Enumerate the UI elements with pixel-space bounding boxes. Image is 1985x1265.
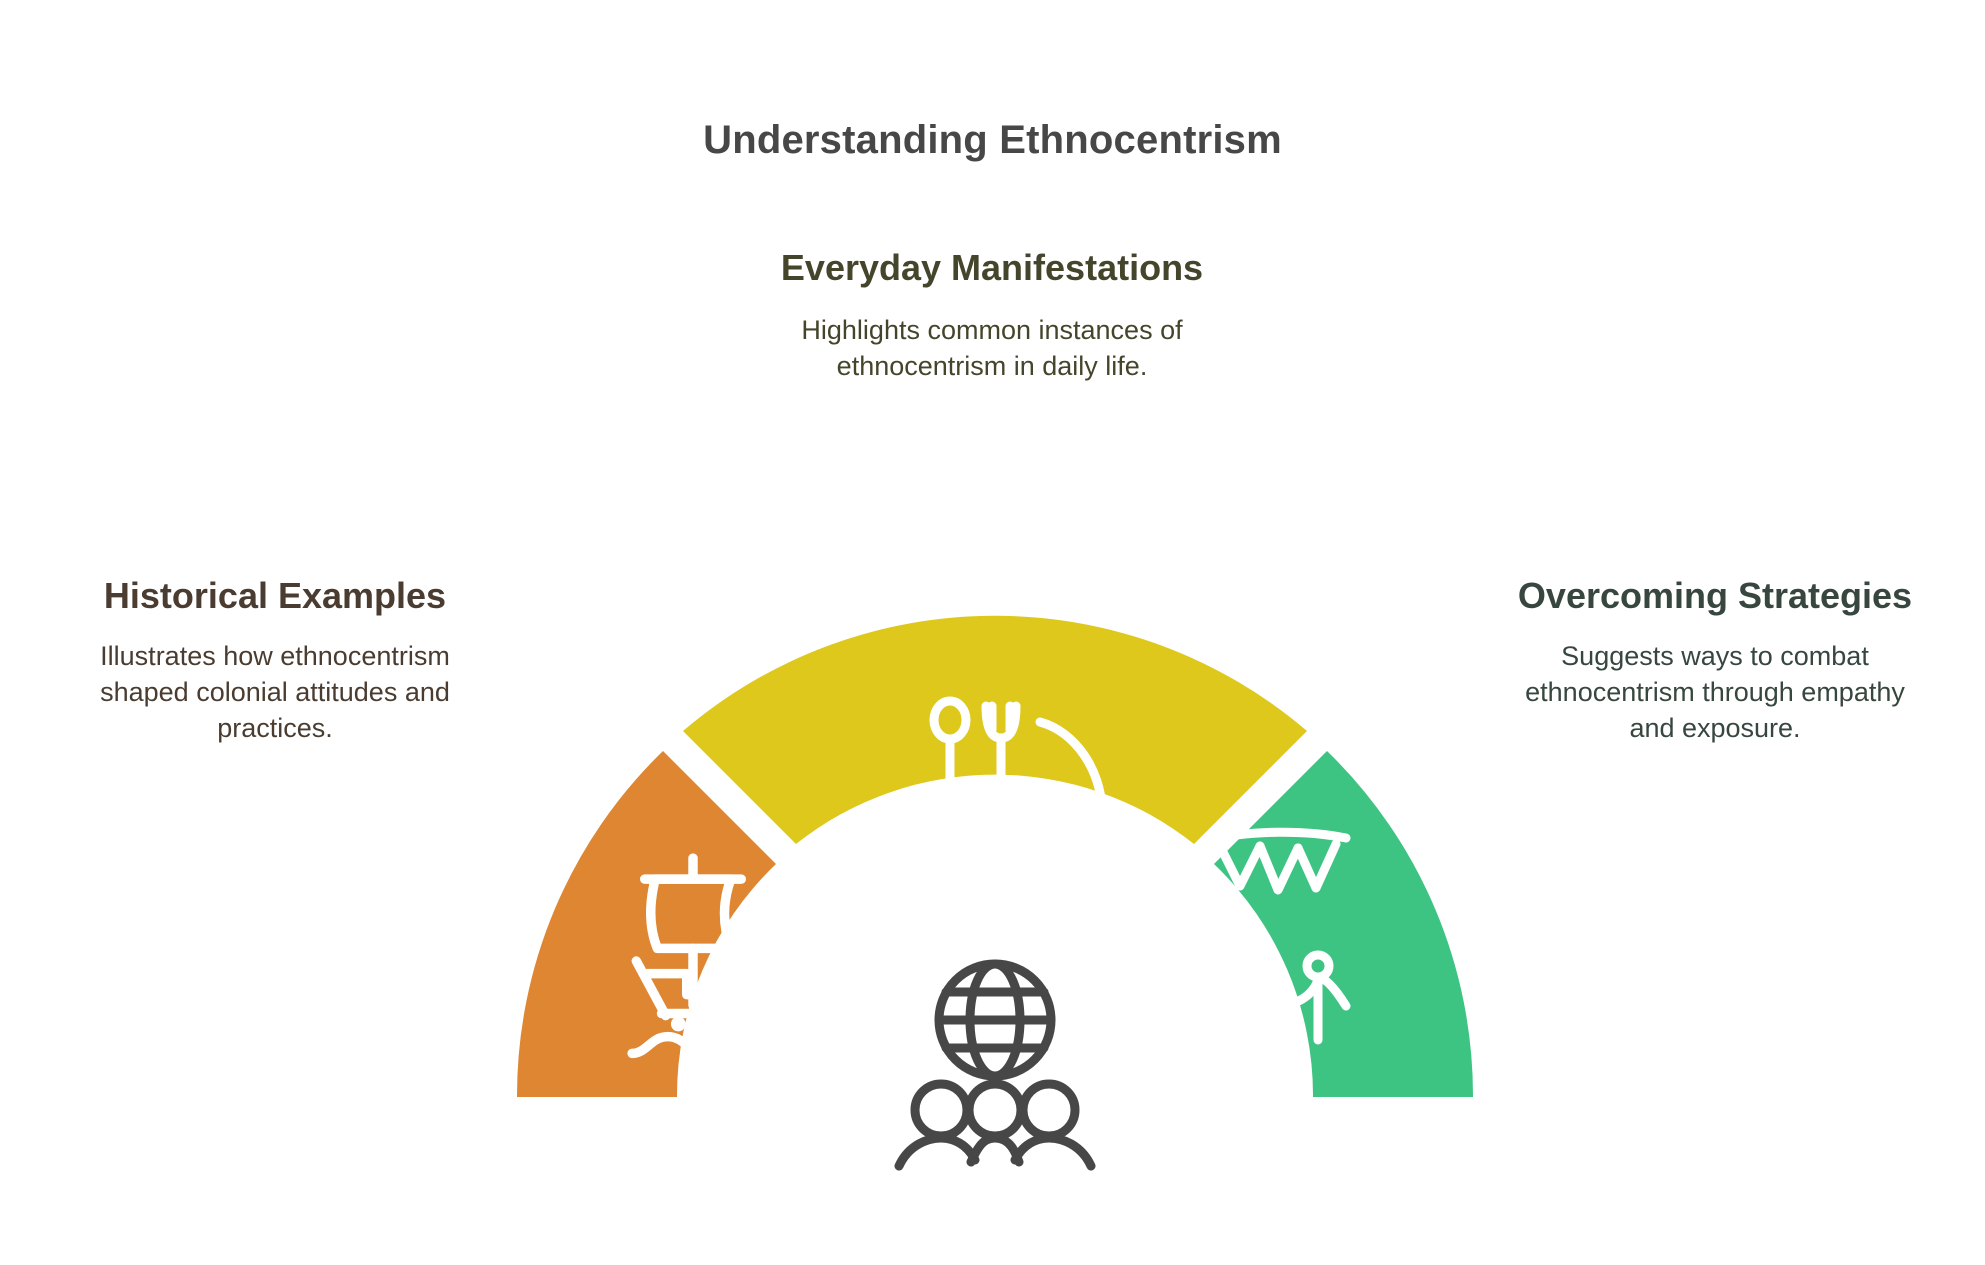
panel-right-heading: Overcoming Strategies — [1500, 573, 1930, 619]
segment-historical-examples[interactable] — [517, 751, 776, 1097]
panel-center-body: Highlights common instances of ethnocent… — [762, 291, 1222, 385]
panel-historical-examples: Historical Examples Illustrates how ethn… — [60, 573, 490, 747]
panel-center-heading: Everyday Manifestations — [762, 245, 1222, 291]
hub-globe-people-icon — [899, 964, 1091, 1166]
panel-left-heading: Historical Examples — [60, 573, 490, 619]
panel-overcoming-strategies: Overcoming Strategies Suggests ways to c… — [1500, 573, 1930, 747]
segment-everyday-manifestations[interactable] — [683, 616, 1307, 892]
panel-left-body: Illustrates how ethnocentrism shaped col… — [60, 619, 490, 747]
panel-right-body: Suggests ways to combat ethnocentrism th… — [1500, 619, 1930, 747]
panel-everyday-manifestations: Everyday Manifestations Highlights commo… — [762, 245, 1222, 385]
segment-right-wedge[interactable] — [1214, 751, 1473, 1097]
segment-overcoming-strategies[interactable] — [1210, 751, 1473, 1097]
